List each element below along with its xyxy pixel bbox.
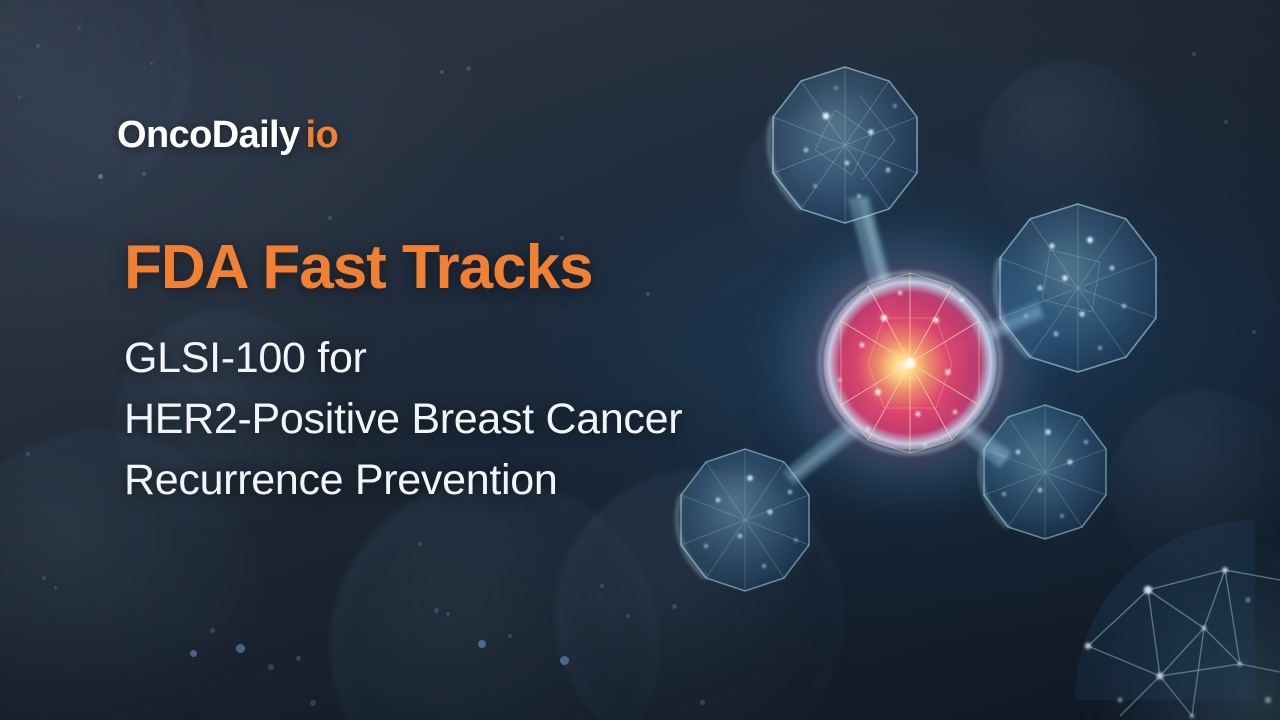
background-sphere (980, 60, 1160, 240)
particle (54, 586, 57, 589)
subtitle-line-1: GLSI-100 for (124, 328, 682, 389)
particle (42, 576, 46, 580)
satellite-atom-right (986, 196, 1170, 380)
background-sphere (1110, 390, 1280, 580)
slide-canvas: OncoDailyio FDA Fast Tracks GLSI-100 for… (0, 0, 1280, 720)
satellite-atom-bottom-right (973, 398, 1117, 542)
page-title: FDA Fast Tracks (124, 237, 593, 299)
particle (36, 44, 40, 48)
particle (1252, 330, 1256, 334)
particle (26, 452, 30, 456)
particle (1192, 52, 1196, 56)
subtitle-line-3: Recurrence Prevention (124, 450, 682, 511)
corner-wireframe-sphere (1075, 520, 1280, 720)
particle (98, 174, 103, 179)
particle (78, 26, 81, 29)
particle (18, 96, 21, 99)
brand-logo[interactable]: OncoDailyio (117, 116, 338, 154)
brand-name-suffix: io (306, 114, 339, 156)
page-subtitle: GLSI-100 for HER2-Positive Breast Cancer… (124, 328, 682, 511)
subtitle-line-2: HER2-Positive Breast Cancer (124, 389, 682, 450)
brand-name-primary: OncoDaily (117, 114, 300, 156)
text-content: OncoDailyio FDA Fast Tracks GLSI-100 for… (117, 0, 837, 720)
particle (1224, 120, 1228, 124)
